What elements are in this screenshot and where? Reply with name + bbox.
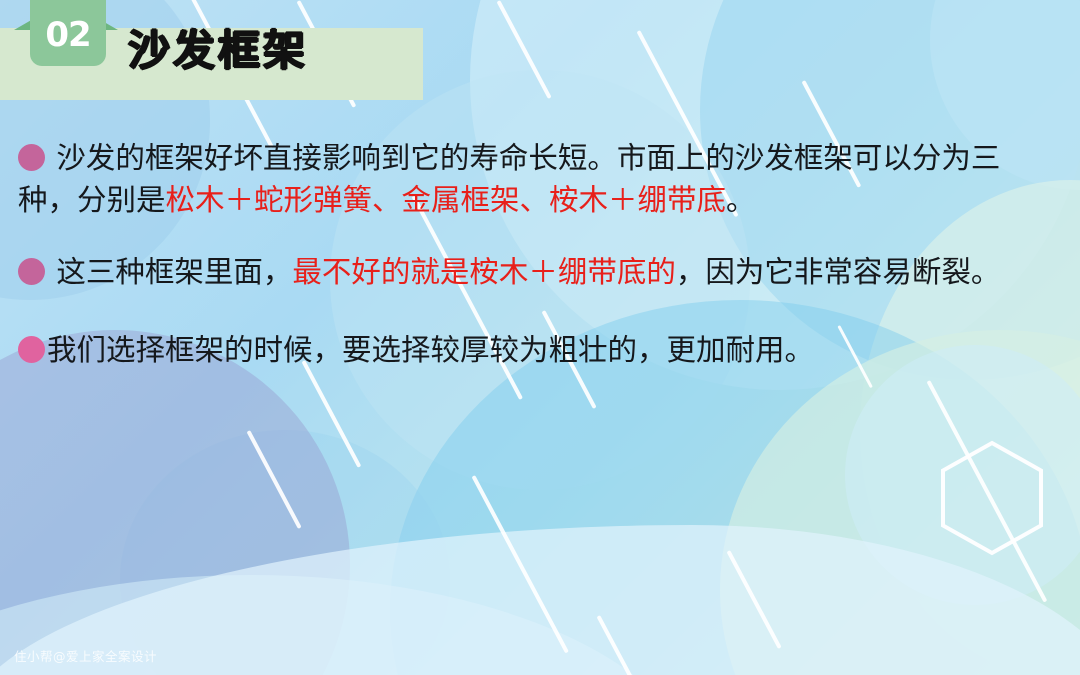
section-number-badge: 02 [30,0,106,66]
page-title: 沙发框架 [128,27,308,75]
diagonal-streak [471,475,568,653]
paragraph-3-run-1: 我们选择框架的时候，要选择较厚较为粗壮的，更加耐用。 [47,333,814,367]
paragraph-2-run-1: 这三种框架里面， [47,255,292,289]
paragraph-2: 这三种框架里面，最不好的就是桉木＋绷带底的，因为它非常容易断裂。 [0,252,1080,294]
content-body: 沙发的框架好坏直接影响到它的寿命长短。市面上的沙发框架可以分为三种，分别是松木＋… [0,138,1080,398]
diagonal-streak [926,380,1047,603]
paragraph-1-run-2-highlight: 松木＋蛇形弹簧、金属框架、桉木＋绷带底 [166,183,727,217]
slide-canvas: 02 沙发框架 沙发的框架好坏直接影响到它的寿命长短。市面上的沙发框架可以分为三… [0,0,1080,675]
hexagon-outline-icon [940,440,1044,556]
bullet-circle-icon [18,336,45,363]
diagonal-streak [246,430,301,529]
paragraph-2-run-3: ，因为它非常容易断裂。 [676,255,1001,289]
paragraph-3: 我们选择框架的时候，要选择较厚较为粗壮的，更加耐用。 [0,330,1080,372]
background-wave [0,525,1080,675]
paragraph-1: 沙发的框架好坏直接影响到它的寿命长短。市面上的沙发框架可以分为三种，分别是松木＋… [0,138,1080,222]
paragraph-1-run-3: 。 [726,183,756,217]
bullet-circle-icon [18,258,45,285]
diagonal-streak [496,0,551,99]
section-number-label: 02 [45,14,90,52]
diagonal-streak [596,615,651,675]
paragraph-2-run-2-highlight: 最不好的就是桉木＋绷带底的 [292,255,676,289]
watermark: 住小帮@爱上家全案设计 [14,646,157,665]
background-blob [120,430,450,675]
diagonal-streak [726,550,781,649]
bullet-circle-icon [18,144,45,171]
